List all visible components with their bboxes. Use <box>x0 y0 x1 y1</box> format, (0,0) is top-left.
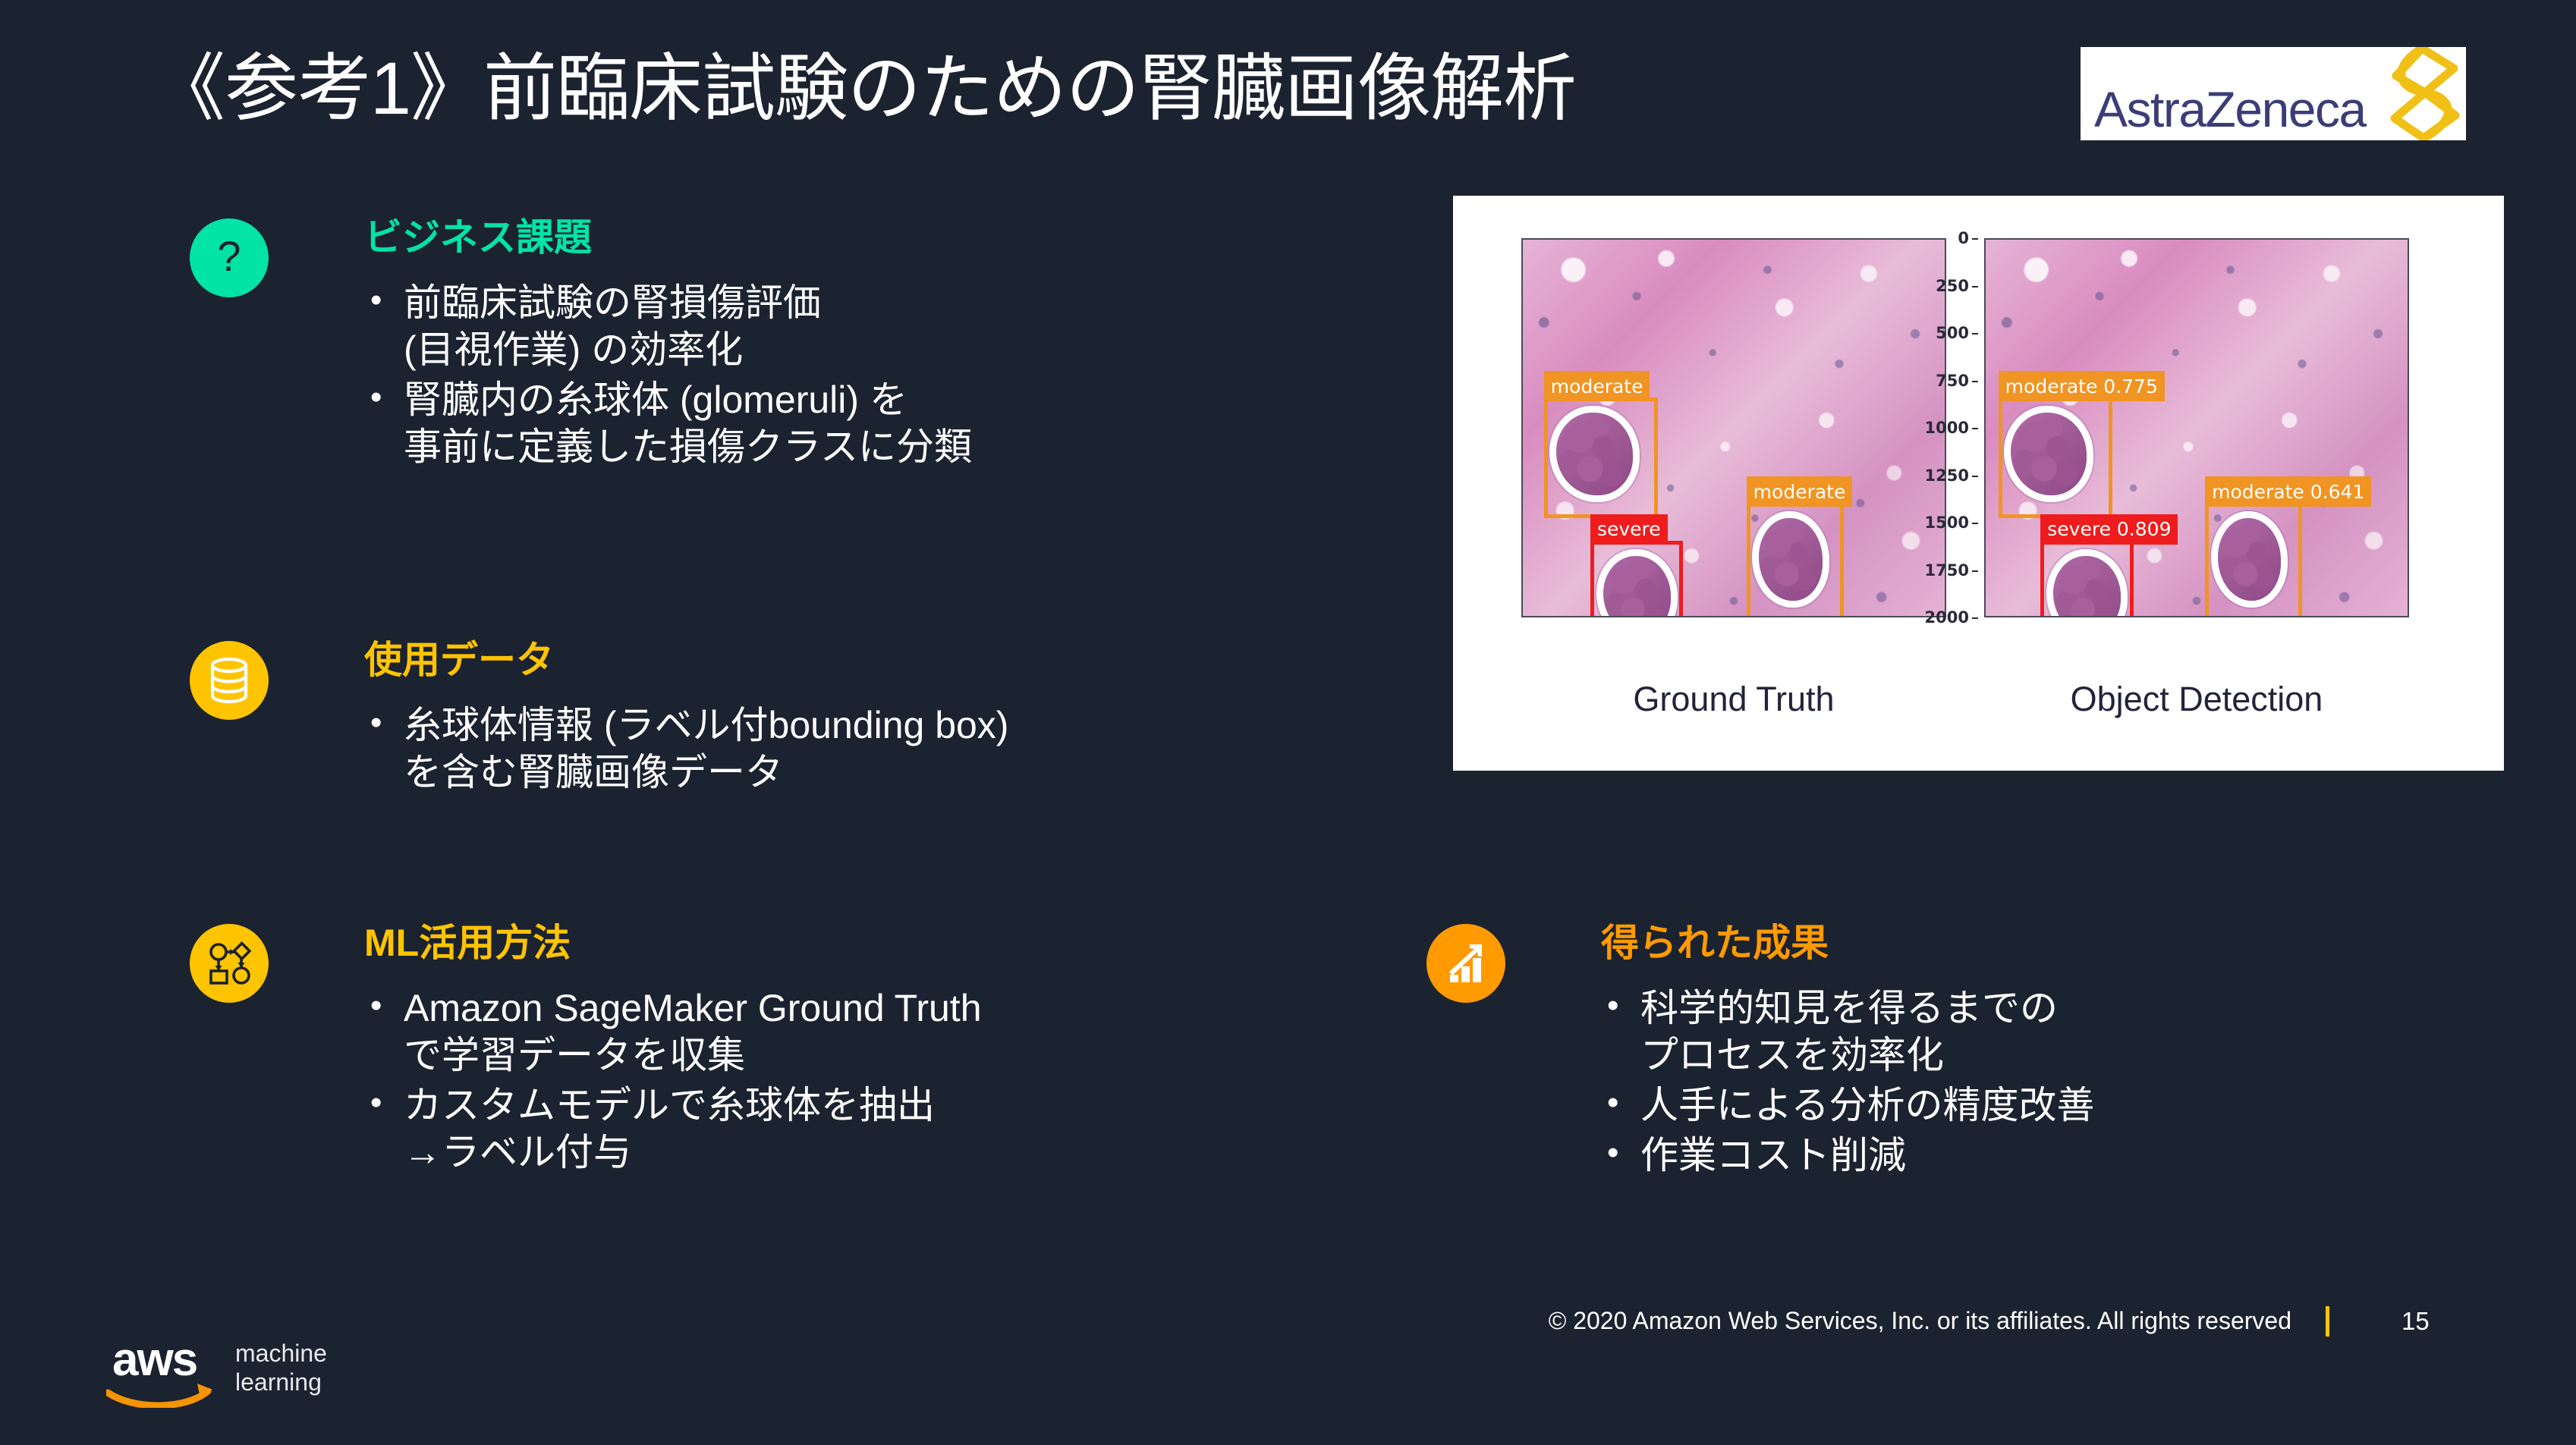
aws-logo-subtitle-line2: learning <box>235 1368 327 1397</box>
plot-caption-object-detection: Object Detection <box>1984 680 2409 719</box>
bounding-box-label: severe <box>1590 514 1668 545</box>
bullet-list: 糸球体情報 (ラベル付bounding box) を含む腎臓画像データ <box>364 702 1008 796</box>
list-item: 腎臓内の糸球体 (glomeruli) を 事前に定義した損傷クラスに分類 <box>364 376 972 470</box>
page-title: 《参考1》前臨床試験のための腎臓画像解析 <box>152 44 1576 134</box>
y-tick-label: 1500 <box>1925 514 1969 532</box>
bounding-box-moderate: moderate <box>1747 503 1844 617</box>
astrazeneca-helix-icon <box>2349 47 2463 140</box>
bounding-box-label: severe 0.809 <box>2040 514 2178 545</box>
bounding-box-severe: severe <box>1590 541 1683 617</box>
histology-image-object-detection: moderate 0.775 moderate 0.641 severe 0.8… <box>1984 238 2409 617</box>
bounding-box-severe: severe 0.809 <box>2040 541 2133 617</box>
aws-logo-subtitle-line1: machine <box>235 1340 327 1368</box>
bounding-box-moderate: moderate <box>1544 397 1658 518</box>
section-body: ビジネス課題 前臨床試験の腎損傷評価 (目視作業) の効率化 腎臓内の糸球体 (… <box>364 218 972 473</box>
list-item: 作業コスト削減 <box>1601 1132 2095 1179</box>
bullet-list: 科学的知見を得るまでの プロセスを効率化 人手による分析の精度改善 作業コスト削… <box>1601 985 2095 1179</box>
plot-caption-ground-truth: Ground Truth <box>1521 680 1946 719</box>
bounding-box-label: moderate <box>1544 371 1650 401</box>
plot-object-detection: 0 250 500 750 1000 1250 1500 1750 2000 m… <box>1984 238 2409 617</box>
y-tick-label: 1250 <box>1925 466 1969 485</box>
section-body: 得られた成果 科学的知見を得るまでの プロセスを効率化 人手による分析の精度改善… <box>1601 924 2095 1182</box>
y-tick-label: 500 <box>1936 324 1969 342</box>
section-heading: 得られた成果 <box>1601 924 2095 962</box>
histology-image-ground-truth: moderate moderate severe <box>1521 238 1946 617</box>
aws-wordmark: aws <box>112 1337 226 1384</box>
list-item: 糸球体情報 (ラベル付bounding box) を含む腎臓画像データ <box>364 702 1008 796</box>
list-item: Amazon SageMaker Ground Truth で学習データを収集 <box>364 985 982 1079</box>
bar-chart-arrow-icon <box>1444 941 1488 985</box>
section-body: ML活用方法 Amazon SageMaker Ground Truth で学習… <box>364 924 982 1179</box>
ml-workflow-icon <box>190 924 269 1003</box>
growth-chart-icon <box>1426 924 1505 1003</box>
slide-root: 《参考1》前臨床試験のための腎臓画像解析 AstraZeneca ? ビジネス課… <box>0 0 2576 1445</box>
plots-row: moderate moderate severe 0 250 500 750 <box>1453 196 2504 666</box>
bounding-box-moderate: moderate 0.775 <box>1999 397 2112 518</box>
amazon-smile-icon <box>106 1382 222 1408</box>
bounding-box-label: moderate 0.641 <box>2205 476 2371 507</box>
section-heading: ML活用方法 <box>364 924 982 962</box>
copyright-text: © 2020 Amazon Web Services, Inc. or its … <box>1549 1307 2291 1335</box>
page-number: 15 <box>2401 1307 2430 1336</box>
ml-node-graph-icon <box>207 941 251 985</box>
footer-separator <box>2326 1306 2329 1337</box>
section-heading: ビジネス課題 <box>364 218 972 256</box>
y-tick-label: 750 <box>1936 372 1969 390</box>
aws-machine-learning-logo: aws machine learning <box>112 1337 226 1384</box>
y-tick-label: 1000 <box>1925 419 1969 437</box>
section-body: 使用データ 糸球体情報 (ラベル付bounding box) を含む腎臓画像デー… <box>364 641 1008 799</box>
y-tick-label: 1750 <box>1925 561 1969 580</box>
bounding-box-moderate: moderate 0.641 <box>2205 503 2302 617</box>
list-item: 前臨床試験の腎損傷評価 (目視作業) の効率化 <box>364 279 972 373</box>
y-tick-label: 0 <box>1958 229 1969 247</box>
bounding-box-label: moderate 0.775 <box>1999 371 2165 401</box>
bullet-list: Amazon SageMaker Ground Truth で学習データを収集 … <box>364 985 982 1176</box>
y-axis: 0 250 500 750 1000 1250 1500 1750 2000 <box>1911 238 1980 617</box>
bounding-box-label: moderate <box>1747 476 1853 507</box>
bullet-list: 前臨床試験の腎損傷評価 (目視作業) の効率化 腎臓内の糸球体 (glomeru… <box>364 279 972 470</box>
astrazeneca-logo: AstraZeneca <box>2081 47 2466 140</box>
question-mark-glyph: ? <box>217 235 241 278</box>
y-tick-label: 250 <box>1936 277 1969 295</box>
astrazeneca-wordmark: AstraZeneca <box>2094 84 2366 134</box>
plot-ground-truth: moderate moderate severe <box>1521 238 1946 617</box>
aws-logo-subtitle: machine learning <box>235 1340 327 1397</box>
figure-panel: moderate moderate severe 0 250 500 750 <box>1453 196 2504 771</box>
section-heading: 使用データ <box>364 641 1008 679</box>
question-mark-icon: ? <box>190 218 269 297</box>
list-item: 人手による分析の精度改善 <box>1601 1082 2095 1129</box>
list-item: カスタムモデルで糸球体を抽出 →ラベル付与 <box>364 1082 982 1176</box>
database-cylinder-icon <box>208 657 250 704</box>
list-item: 科学的知見を得るまでの プロセスを効率化 <box>1601 985 2095 1079</box>
database-icon <box>190 641 269 720</box>
y-tick-label: 2000 <box>1925 608 1969 627</box>
